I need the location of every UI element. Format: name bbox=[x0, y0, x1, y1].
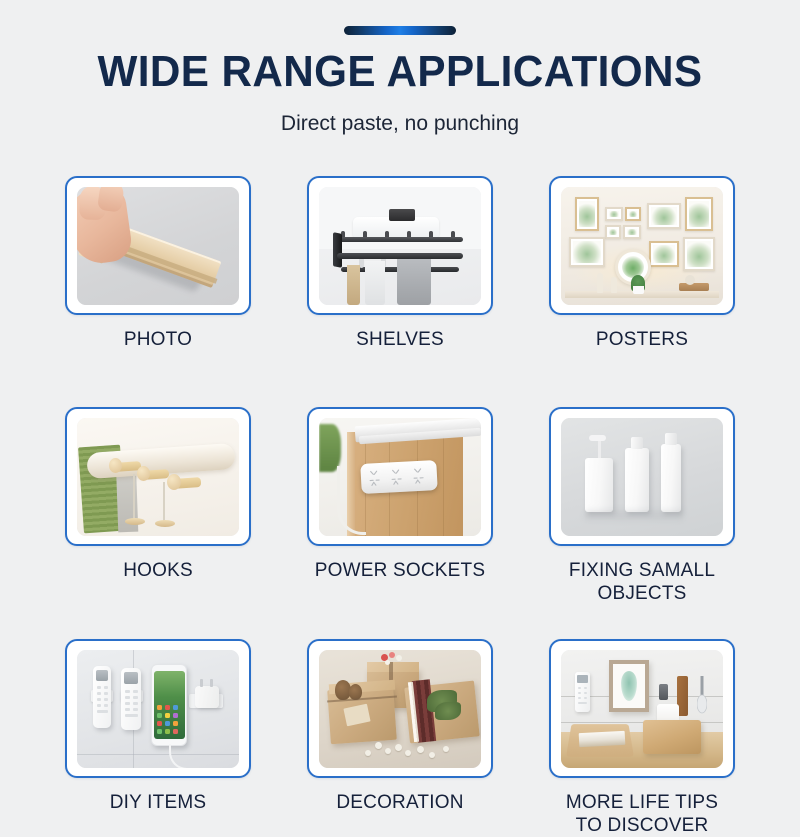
hanging-towel-grey bbox=[397, 259, 431, 305]
peg-knob bbox=[167, 474, 181, 490]
dark-box-object bbox=[389, 209, 415, 221]
card-diy-items[interactable] bbox=[65, 639, 251, 778]
pump-head bbox=[589, 435, 606, 441]
card-more-life-tips[interactable] bbox=[549, 639, 735, 778]
card-decoration[interactable] bbox=[307, 639, 493, 778]
page-header: WIDE RANGE APPLICATIONS Direct paste, no… bbox=[0, 0, 800, 137]
photo-image-hooks bbox=[77, 418, 239, 536]
grid-row-3: DIY ITEMS bbox=[0, 639, 800, 837]
wooden-disc bbox=[155, 520, 175, 527]
page-title: WIDE RANGE APPLICATIONS bbox=[16, 47, 784, 97]
card-hooks[interactable] bbox=[65, 407, 251, 546]
cell-label-diy-items: DIY ITEMS bbox=[110, 791, 206, 814]
photo-image-photo bbox=[77, 187, 239, 305]
card-power-sockets[interactable] bbox=[307, 407, 493, 546]
power-strip bbox=[360, 460, 437, 494]
grid-cell-hooks[interactable]: HOOKS bbox=[65, 407, 251, 605]
hanging-keys bbox=[659, 684, 668, 700]
cell-label-power-sockets: POWER SOCKETS bbox=[315, 559, 485, 582]
vase bbox=[611, 277, 617, 293]
rack-middle-rail bbox=[337, 253, 463, 259]
peg-knob bbox=[109, 458, 122, 473]
berry bbox=[405, 750, 411, 756]
hanging-string bbox=[163, 482, 165, 522]
wall-charger bbox=[195, 686, 219, 708]
grid-row-1: PHOTO bbox=[0, 176, 800, 351]
grid-cell-posters[interactable]: POSTERS bbox=[549, 176, 735, 351]
grid-cell-fixing-small-objects[interactable]: FIXING SAMALL OBJECTS bbox=[549, 407, 735, 605]
applications-grid: PHOTO bbox=[0, 176, 800, 837]
phone-screen bbox=[154, 671, 185, 739]
decor-ball bbox=[685, 275, 695, 285]
framed-leaf-artwork bbox=[609, 660, 649, 712]
framed-poster bbox=[625, 207, 641, 221]
charging-cable bbox=[169, 744, 205, 768]
vase bbox=[597, 273, 603, 293]
framed-poster bbox=[605, 225, 621, 239]
lotion-bottle bbox=[625, 448, 649, 512]
hanging-towel-white bbox=[365, 261, 385, 305]
peg-knob bbox=[137, 466, 150, 481]
bottle-shadow bbox=[585, 510, 683, 520]
card-posters[interactable] bbox=[549, 176, 735, 315]
toner-bottle bbox=[661, 444, 681, 512]
photo-image-power-sockets bbox=[319, 418, 481, 536]
grid-cell-more-life-tips[interactable]: MORE LIFE TIPS TO DISCOVER bbox=[549, 639, 735, 837]
framed-poster bbox=[683, 237, 715, 271]
plant-pot bbox=[633, 286, 644, 294]
pump-bottle bbox=[585, 458, 613, 512]
berry bbox=[429, 752, 435, 758]
cell-label-more-life-tips: MORE LIFE TIPS TO DISCOVER bbox=[566, 791, 718, 837]
cell-label-photo: PHOTO bbox=[124, 328, 192, 351]
berry bbox=[375, 742, 382, 749]
dried-flower bbox=[385, 660, 390, 665]
framed-poster bbox=[605, 207, 623, 221]
socket-holes-icon bbox=[360, 460, 437, 494]
accent-bar bbox=[344, 26, 456, 35]
framed-poster bbox=[685, 197, 713, 231]
wooden-tissue-box bbox=[643, 720, 701, 754]
photo-image-fixing-small-objects bbox=[561, 418, 723, 536]
remote-control bbox=[93, 666, 111, 728]
leaf-illustration bbox=[621, 671, 637, 701]
rack-top-rail bbox=[337, 237, 463, 242]
dried-flower bbox=[396, 655, 402, 661]
wooden-tray bbox=[679, 283, 709, 291]
page-subtitle: Direct paste, no punching bbox=[0, 111, 800, 137]
photo-image-decoration bbox=[319, 650, 481, 768]
card-photo[interactable] bbox=[65, 176, 251, 315]
berry bbox=[395, 744, 402, 751]
smartphone bbox=[151, 664, 187, 746]
cell-label-posters: POSTERS bbox=[596, 328, 688, 351]
gift-box-lid bbox=[367, 662, 419, 672]
stacked-books bbox=[579, 730, 626, 746]
grid-cell-power-sockets[interactable]: POWER SOCKETS bbox=[307, 407, 493, 605]
cell-label-hooks: HOOKS bbox=[123, 559, 193, 582]
cell-label-decoration: DECORATION bbox=[336, 791, 463, 814]
framed-poster bbox=[623, 225, 641, 239]
photo-image-diy-items bbox=[77, 650, 239, 768]
dried-flower bbox=[389, 652, 395, 658]
berry bbox=[385, 748, 391, 754]
berry bbox=[443, 746, 449, 752]
grid-cell-photo[interactable]: PHOTO bbox=[65, 176, 251, 351]
remote-control bbox=[575, 672, 590, 712]
photo-image-more-life-tips bbox=[561, 650, 723, 768]
plant-leaf bbox=[319, 424, 341, 472]
photo-image-shelves bbox=[319, 187, 481, 305]
wooden-disc bbox=[125, 518, 145, 525]
hanging-towel-beige bbox=[347, 265, 360, 305]
finger bbox=[97, 187, 125, 213]
framed-poster bbox=[649, 241, 679, 267]
bottle-cap bbox=[665, 433, 677, 445]
rack-bracket bbox=[333, 232, 342, 268]
pump-neck bbox=[598, 440, 601, 458]
grid-row-2: HOOKS bbox=[0, 407, 800, 605]
remote-control bbox=[121, 668, 141, 730]
framed-poster bbox=[575, 197, 599, 231]
hanging-tool bbox=[697, 676, 707, 714]
card-shelves[interactable] bbox=[307, 176, 493, 315]
framed-poster bbox=[569, 237, 605, 267]
cell-label-fixing-small-objects: FIXING SAMALL OBJECTS bbox=[569, 559, 715, 605]
framed-poster bbox=[647, 203, 681, 229]
photo-image-posters bbox=[561, 187, 723, 305]
bottle-cap bbox=[631, 437, 643, 449]
berry bbox=[365, 750, 371, 756]
grid-cell-shelves[interactable]: SHELVES bbox=[307, 176, 493, 351]
card-fixing-small-objects[interactable] bbox=[549, 407, 735, 546]
grid-cell-diy-items[interactable]: DIY ITEMS bbox=[65, 639, 251, 837]
hanging-string bbox=[133, 474, 135, 520]
greenery-sprig bbox=[435, 702, 461, 720]
cell-label-shelves: SHELVES bbox=[356, 328, 444, 351]
grid-cell-decoration[interactable]: DECORATION bbox=[307, 639, 493, 837]
berry bbox=[417, 746, 424, 753]
